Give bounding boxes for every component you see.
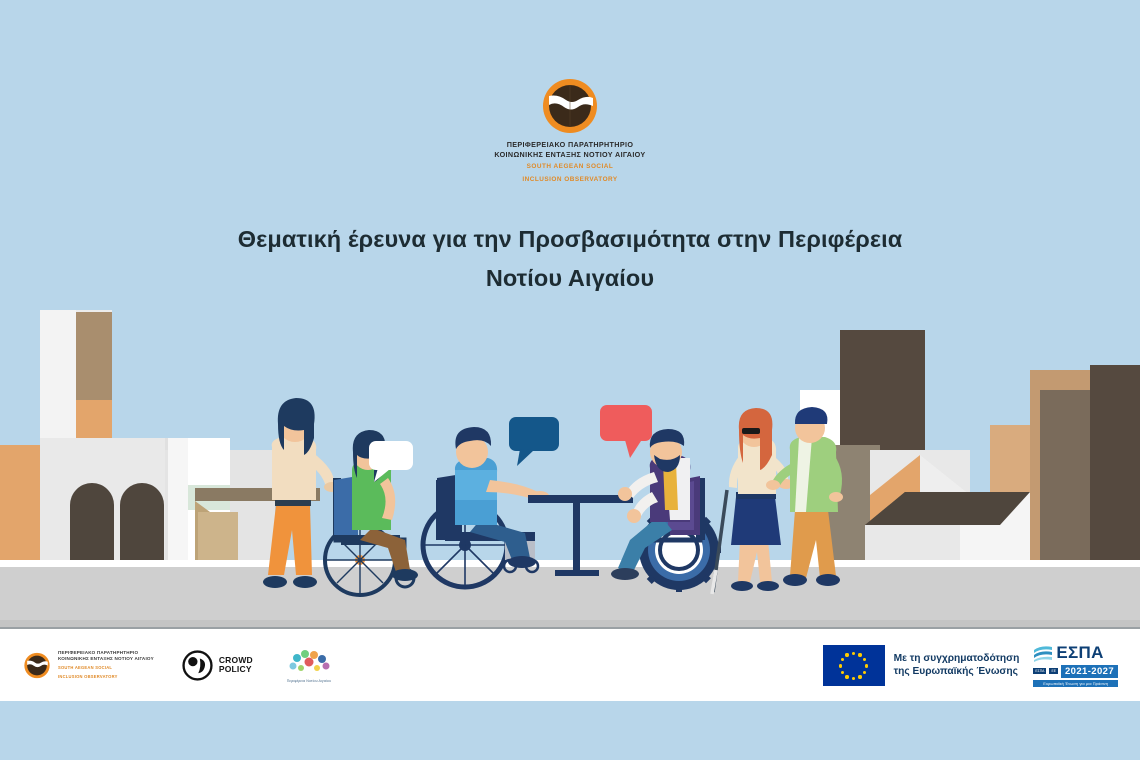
footer-espa-logo: ΕΣΠΑ ΕΣΠΑ ΕΕ 2021-2027 Ευρωπαϊκή Ένωση γ… (1033, 644, 1118, 687)
footer-bar: ΠΕΡΙΦΕΡΕΙΑΚΟ ΠΑΡΑΤΗΡΗΤΗΡΙΟ ΚΟΙΝΩΝΙΚΗΣ ΕΝ… (0, 627, 1140, 701)
logo-english-line2: INCLUSION OBSERVATORY (0, 176, 1140, 185)
footer-eu-block: Με τη συγχρηματοδότηση της Ευρωπαϊκής Έν… (823, 645, 1020, 686)
logo-greek-line2: ΚΟΙΝΩΝΙΚΗΣ ΕΝΤΑΞΗΣ ΝΟΤΙΟΥ ΑΙΓΑΙΟΥ (0, 150, 1140, 160)
observatory-emblem-icon (538, 78, 602, 134)
espa-tagline: Ευρωπαϊκή Ένωση για μια Πράσινη (1033, 680, 1118, 687)
footer-left-logos: ΠΕΡΙΦΕΡΕΙΑΚΟ ΠΑΡΑΤΗΡΗΤΗΡΙΟ ΚΟΙΝΩΝΙΚΗΣ ΕΝ… (22, 648, 337, 683)
crowd-policy-line2: POLICY (219, 665, 253, 675)
logo-english-line1: SOUTH AEGEAN SOCIAL (0, 163, 1140, 172)
espa-mini-label-2: ΕΕ (1049, 668, 1058, 674)
espa-mini-label-1: ΕΣΠΑ (1033, 668, 1046, 674)
espa-years: 2021-2027 (1061, 665, 1118, 678)
slide-title-line2: Νοτίου Αιγαίου (170, 259, 970, 298)
region-south-aegean-icon (281, 648, 337, 678)
logo-greek-line1: ΠΕΡΙΦΕΡΕΙΑΚΟ ΠΑΡΑΤΗΡΗΤΗΡΙΟ (0, 140, 1140, 150)
footer-crowdpolicy-logo: CROWD POLICY (182, 650, 253, 681)
eu-text-line2: της Ευρωπαϊκής Ένωσης (894, 665, 1020, 678)
footer-region-logo: Περιφέρεια Νοτίου Αιγαίου (281, 648, 337, 683)
espa-wave-icon (1033, 644, 1053, 662)
footer-observatory-english2: INCLUSION OBSERVATORY (58, 674, 154, 680)
footer-right-logos: Με τη συγχρηματοδότηση της Ευρωπαϊκής Έν… (823, 644, 1118, 687)
footer-observatory-logo: ΠΕΡΙΦΕΡΕΙΑΚΟ ΠΑΡΑΤΗΡΗΤΗΡΙΟ ΚΟΙΝΩΝΙΚΗΣ ΕΝ… (22, 650, 154, 679)
slide-title-line1: Θεματική έρευνα για την Προσβασιμότητα σ… (170, 220, 970, 259)
eu-text-line1: Με τη συγχρηματοδότηση (894, 652, 1020, 665)
european-union-flag (823, 645, 885, 686)
footer-observatory-greek2: ΚΟΙΝΩΝΙΚΗΣ ΕΝΤΑΞΗΣ ΝΟΤΙΟΥ ΑΙΓΑΙΟΥ (58, 656, 154, 662)
observatory-emblem-icon-small (22, 652, 52, 679)
crowd-policy-icon (182, 650, 213, 681)
footer-observatory-english1: SOUTH AEGEAN SOCIAL (58, 665, 154, 671)
bottom-blue-strip (0, 701, 1140, 760)
slide-title: Θεματική έρευνα για την Προσβασιμότητα σ… (170, 220, 970, 298)
header-logo: ΠΕΡΙΦΕΡΕΙΑΚΟ ΠΑΡΑΤΗΡΗΤΗΡΙΟ ΚΟΙΝΩΝΙΚΗΣ ΕΝ… (0, 78, 1140, 184)
hero-area: ΠΕΡΙΦΕΡΕΙΑΚΟ ΠΑΡΑΤΗΡΗΤΗΡΙΟ ΚΟΙΝΩΝΙΚΗΣ ΕΝ… (0, 0, 1140, 627)
presentation-slide: ΠΕΡΙΦΕΡΕΙΑΚΟ ΠΑΡΑΤΗΡΗΤΗΡΙΟ ΚΟΙΝΩΝΙΚΗΣ ΕΝ… (0, 0, 1140, 760)
espa-word: ΕΣΠΑ (1056, 644, 1103, 661)
region-logo-subtitle: Περιφέρεια Νοτίου Αιγαίου (287, 679, 331, 683)
